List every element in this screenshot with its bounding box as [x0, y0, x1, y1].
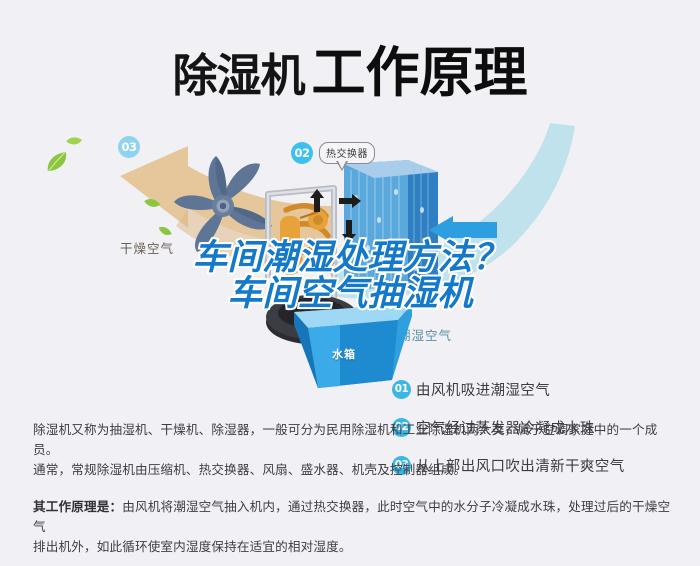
paragraph-2-line-2: 排出机外，如此循环使室内湿度保持在适宜的相对湿度。 [33, 537, 673, 557]
body-copy: 除湿机又称为抽湿机、干燥机、除湿器，一般可分为民用除湿机和工业除湿机两大类，属于… [33, 420, 673, 557]
paragraph-1-line-2: 通常，常规除湿机由压缩机、热交换器、风扇、盛水器、机壳及控制器组成。 [33, 460, 673, 480]
list-item: 01 由风机吸进潮湿空气 [392, 370, 692, 408]
title-part-b: 工作原理 [312, 43, 528, 103]
label-dry-air: 干燥空气 [120, 238, 174, 257]
paragraph-2: 其工作原理是：由风机将潮湿空气抽入机内，通过热交换器，此时空气中的水分子冷凝成水… [33, 497, 673, 557]
paragraph-1-line-1: 除湿机又称为抽湿机、干燥机、除湿器，一般可分为民用除湿机和工业除湿机两大类，属于… [33, 420, 673, 460]
callout-tail-icon [336, 161, 348, 171]
diagram-badge-02: 02 [291, 142, 313, 164]
step-text-01: 由风机吸进潮湿空气 [416, 379, 550, 400]
diagram-badge-03: 03 [118, 136, 140, 158]
paragraph-2-line-1: 其工作原理是：由风机将潮湿空气抽入机内，通过热交换器，此时空气中的水分子冷凝成水… [33, 497, 673, 537]
page-title: 除湿机工作原理 [0, 28, 700, 107]
air-intake-arrow-icon [427, 216, 497, 246]
paragraph-2-lead: 其工作原理是： [33, 500, 122, 514]
diagram-badge-01: 01 [383, 294, 405, 316]
title-part-a: 除湿机 [172, 50, 304, 101]
step-badge-01: 01 [392, 380, 411, 399]
infographic-page: 除湿机工作原理 干燥空气 潮湿空气 [0, 0, 700, 566]
paragraph-1: 除湿机又称为抽湿机、干燥机、除湿器，一般可分为民用除湿机和工业除湿机两大类，属于… [33, 420, 673, 480]
paragraph-2-rest: 由风机将潮湿空气抽入机内，通过热交换器，此时空气中的水分子冷凝成水珠，处理过后的… [33, 500, 670, 534]
dehumidifier-diagram: 干燥空气 潮湿空气 [0, 118, 700, 398]
label-water-tank: 水箱 [332, 346, 356, 362]
